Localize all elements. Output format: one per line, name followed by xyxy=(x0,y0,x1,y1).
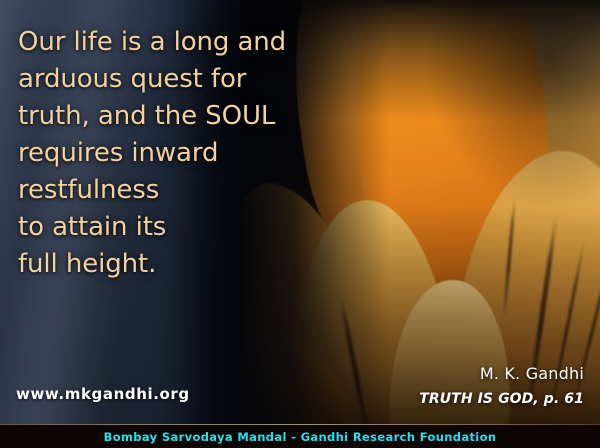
footer-organization-text: Bombay Sarvodaya Mandal - Gandhi Researc… xyxy=(104,430,497,444)
quote-source: TRUTH IS GOD, p. 61 xyxy=(419,391,584,407)
quote-author: M. K. Gandhi xyxy=(480,364,584,383)
quote-text: Our life is a long and arduous quest for… xyxy=(18,24,338,283)
website-url[interactable]: www.mkgandhi.org xyxy=(16,385,190,403)
quote-poster: Our life is a long and arduous quest for… xyxy=(0,0,600,448)
footer-bar: Bombay Sarvodaya Mandal - Gandhi Researc… xyxy=(0,425,600,448)
